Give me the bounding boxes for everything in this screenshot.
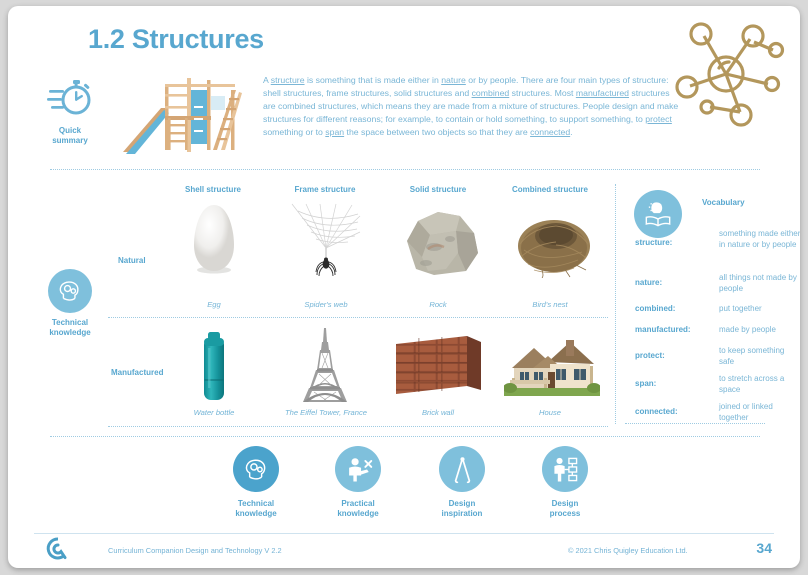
vocab-term-manufactured: manufactured: xyxy=(635,325,691,334)
page-title: 1.2 Structures xyxy=(88,24,264,55)
divider-between-rows xyxy=(108,317,608,318)
vocab-term-structure: structure: xyxy=(635,238,672,247)
chris-quigley-logo: ChrisQuigley Education xyxy=(36,537,80,568)
vocab-def-combined: put together xyxy=(719,304,800,315)
rock-image xyxy=(404,209,482,279)
strand-design-process[interactable]: Design process xyxy=(523,446,607,519)
eiffel-tower-image xyxy=(300,328,350,404)
divider-under-vocabulary xyxy=(625,423,765,424)
divider-above-icon-strip xyxy=(50,436,760,437)
cell-caption-water-bottle: Water bottle xyxy=(155,408,273,417)
strand-design-inspiration[interactable]: Design inspiration xyxy=(420,446,504,519)
row-label-manufactured: Manufactured xyxy=(111,368,163,377)
network-decorative-graphic xyxy=(668,12,788,132)
head-gears-icon[interactable] xyxy=(233,446,279,492)
vocab-term-combined: combined: xyxy=(635,304,675,313)
spider-web-image xyxy=(290,202,362,280)
vocab-def-protect: to keep something safe xyxy=(719,346,800,367)
strand-label-line1: Design xyxy=(420,499,504,509)
person-tools-icon[interactable] xyxy=(335,446,381,492)
strand-label-line2: process xyxy=(523,509,607,519)
vocab-def-span: to stretch across a space xyxy=(719,374,800,395)
strand-technical-knowledge[interactable]: Technical knowledge xyxy=(214,446,298,519)
head-reading-book-icon xyxy=(634,190,682,238)
vocab-term-nature: nature: xyxy=(635,278,662,287)
vocab-term-protect: protect: xyxy=(635,351,665,360)
cell-caption-brick-wall: Brick wall xyxy=(379,408,497,417)
cell-caption-egg: Egg xyxy=(155,300,273,309)
egg-image xyxy=(188,202,240,276)
playground-climbing-frame-image xyxy=(121,68,253,158)
quick-summary-label-line1: Quick xyxy=(41,126,99,136)
cell-caption-eiffel-tower: The Eiffel Tower, France xyxy=(267,408,385,417)
strand-label-line1: Practical xyxy=(316,499,400,509)
vocab-def-manufactured: made by people xyxy=(719,325,800,336)
footer-right-text: © 2021 Chris Quigley Education Ltd. xyxy=(568,546,688,555)
vocabulary-title: Vocabulary xyxy=(702,198,745,207)
quigley-q-icon xyxy=(45,537,71,563)
vertical-divider xyxy=(615,184,616,424)
quick-summary-label-line2: summary xyxy=(41,136,99,146)
divider-under-summary xyxy=(50,169,760,170)
strand-practical-knowledge[interactable]: Practical knowledge xyxy=(316,446,400,519)
tk-badge-line1: Technical xyxy=(38,318,102,328)
column-header-shell: Shell structure xyxy=(158,185,268,194)
compass-icon[interactable] xyxy=(439,446,485,492)
footer-left-text: Curriculum Companion Design and Technolo… xyxy=(108,546,282,555)
intro-paragraph: A structure is something that is made ei… xyxy=(263,74,683,139)
vocab-term-connected: connected: xyxy=(635,407,678,416)
technical-knowledge-badge: Technical knowledge xyxy=(38,269,102,338)
birds-nest-image xyxy=(514,206,594,278)
strand-label-line1: Technical xyxy=(214,499,298,509)
page-number: 34 xyxy=(756,540,772,556)
stopwatch-icon xyxy=(47,78,93,118)
cell-caption-birds-nest: Bird's nest xyxy=(491,300,609,309)
quick-summary-badge: Quick summary xyxy=(41,78,99,146)
brick-wall-image xyxy=(393,336,483,398)
cell-caption-spiders-web: Spider's web xyxy=(267,300,385,309)
divider-under-rows xyxy=(108,426,608,427)
person-flowchart-icon[interactable] xyxy=(542,446,588,492)
vocab-def-structure: something made either in nature or by pe… xyxy=(719,229,800,250)
tk-badge-line2: knowledge xyxy=(38,328,102,338)
row-label-natural: Natural xyxy=(118,256,146,265)
worksheet-page: 1.2 Structures xyxy=(8,6,800,568)
footer-rule xyxy=(34,533,774,534)
column-header-solid: Solid structure xyxy=(383,185,493,194)
vocab-term-span: span: xyxy=(635,379,656,388)
cell-caption-house: House xyxy=(491,408,609,417)
vocab-def-connected: joined or linked together xyxy=(719,402,800,423)
vocab-def-nature: all things not made by people xyxy=(719,273,800,294)
strand-label-line2: knowledge xyxy=(214,509,298,519)
column-header-combined: Combined structure xyxy=(495,185,605,194)
strand-label-line1: Design xyxy=(523,499,607,509)
house-image xyxy=(504,334,600,398)
cell-caption-rock: Rock xyxy=(379,300,497,309)
head-gears-icon xyxy=(48,269,92,313)
strand-label-line2: inspiration xyxy=(420,509,504,519)
column-header-frame: Frame structure xyxy=(270,185,380,194)
water-bottle-image xyxy=(202,332,226,404)
strand-label-line2: knowledge xyxy=(316,509,400,519)
